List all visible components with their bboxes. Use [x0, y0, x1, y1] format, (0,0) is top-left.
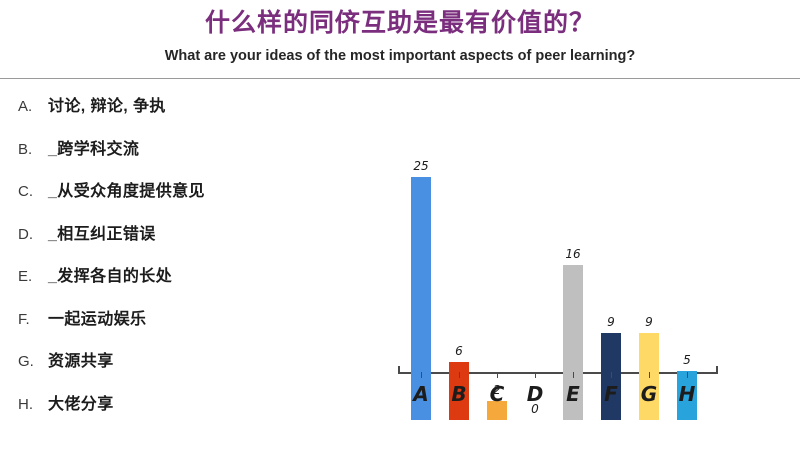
page-title-chinese: 什么样的同侪互助是最有价值的？: [0, 8, 800, 38]
option-row: G.资源共享: [18, 347, 358, 390]
x-axis-tick: [687, 372, 689, 378]
x-axis-tick: [649, 372, 651, 378]
x-axis-label-e: E: [554, 382, 592, 406]
bar-value-label: 25: [402, 159, 440, 173]
slide-canvas: 什么样的同侪互助是最有价值的？ What are your ideas of t…: [0, 0, 800, 449]
bar-slot: 25: [402, 158, 440, 420]
x-axis-tick: [611, 372, 613, 378]
x-axis-label-c: C: [478, 382, 516, 406]
option-key: B.: [18, 141, 48, 158]
option-row: A.讨论, 辩论, 争执: [18, 92, 358, 135]
x-axis-tick: [459, 372, 461, 378]
option-key: G.: [18, 353, 48, 370]
option-text: _发挥各自的长处: [48, 262, 172, 286]
x-axis-label-d: D: [516, 382, 554, 406]
option-key: C.: [18, 183, 48, 200]
option-text: _跨学科交流: [48, 135, 139, 159]
header-divider: [0, 78, 800, 79]
bar-slot: 9: [592, 158, 630, 420]
option-row: F.一起运动娱乐: [18, 305, 358, 348]
bar-value-label: 5: [668, 353, 706, 367]
x-axis-label-a: A: [402, 382, 440, 406]
x-axis-label-b: B: [440, 382, 478, 406]
option-text: _相互纠正错误: [48, 220, 156, 244]
option-text: 讨论, 辩论, 争执: [48, 92, 166, 116]
option-key: F.: [18, 311, 48, 328]
option-text: _从受众角度提供意见: [48, 177, 205, 201]
option-key: A.: [18, 98, 48, 115]
x-axis-tick: [535, 372, 537, 378]
page-subtitle-english: What are your ideas of the most importan…: [0, 46, 800, 66]
bar-slot: 16: [554, 158, 592, 420]
options-list: A.讨论, 辩论, 争执B._跨学科交流C._从受众角度提供意见D._相互纠正错…: [18, 92, 358, 432]
x-axis-tick: [421, 372, 423, 378]
x-axis-label-f: F: [592, 382, 630, 406]
option-row: D._相互纠正错误: [18, 220, 358, 263]
option-key: D.: [18, 226, 48, 243]
option-key: H.: [18, 396, 48, 413]
option-text: 资源共享: [48, 347, 114, 371]
bar-value-label: 9: [630, 315, 668, 329]
bar-slot: 6: [440, 158, 478, 420]
x-axis-label-g: G: [630, 382, 668, 406]
option-row: E._发挥各自的长处: [18, 262, 358, 305]
bar-slot: 5: [668, 158, 706, 420]
bar-slot: 2: [478, 158, 516, 420]
option-text: 大佬分享: [48, 390, 114, 414]
bar-value-label: 6: [440, 344, 478, 358]
slide-header: 什么样的同侪互助是最有价值的？ What are your ideas of t…: [0, 0, 800, 78]
option-text: 一起运动娱乐: [48, 305, 146, 329]
x-axis-left-cap: [398, 366, 400, 374]
x-axis-label-h: H: [668, 382, 706, 406]
bar-value-label: 16: [554, 247, 592, 261]
option-row: C._从受众角度提供意见: [18, 177, 358, 220]
bar-chart: 25A6B2C0D16E9F9G5H: [392, 110, 722, 420]
x-axis-right-cap: [716, 366, 718, 374]
x-axis-tick: [497, 372, 499, 378]
option-key: E.: [18, 268, 48, 285]
option-row: H.大佬分享: [18, 390, 358, 433]
bar-slot: 0: [516, 158, 554, 420]
bar-slot: 9: [630, 158, 668, 420]
option-row: B._跨学科交流: [18, 135, 358, 178]
bar-value-label: 9: [592, 315, 630, 329]
x-axis-tick: [573, 372, 575, 378]
